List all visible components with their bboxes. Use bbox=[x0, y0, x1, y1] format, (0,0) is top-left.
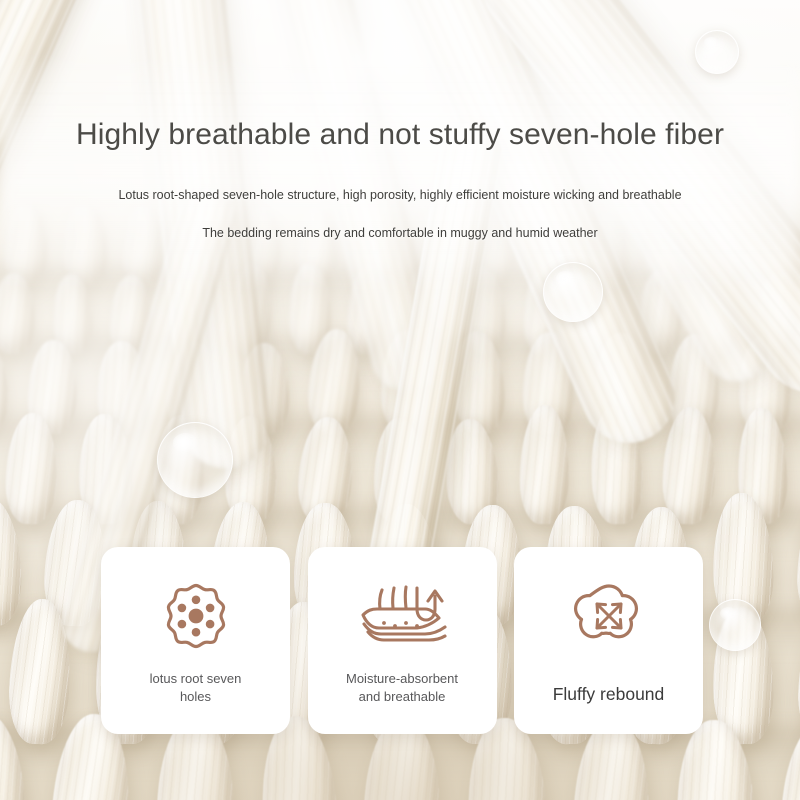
feature-card-lotus-root[interactable]: lotus root seven holes bbox=[101, 547, 290, 734]
headline-text-block: Highly breathable and not stuffy seven-h… bbox=[0, 118, 800, 240]
subtitle-line-2: The bedding remains dry and comfortable … bbox=[0, 226, 800, 240]
feature-card-group: lotus root seven holes bbox=[101, 547, 703, 734]
lotus-root-seven-holes-icon bbox=[159, 577, 233, 655]
card-label-line-2: and breathable bbox=[346, 688, 458, 706]
card-label-line-2: holes bbox=[150, 688, 242, 706]
fluffy-rebound-arrows-icon bbox=[572, 577, 646, 655]
water-droplet-center bbox=[543, 262, 603, 322]
subtitle-line-1: Lotus root-shaped seven-hole structure, … bbox=[0, 188, 800, 202]
feature-card-label: Moisture-absorbent and breathable bbox=[334, 670, 470, 706]
water-droplet-top-right bbox=[695, 30, 739, 74]
feature-card-label: lotus root seven holes bbox=[138, 670, 254, 706]
water-droplet-bottom-right bbox=[709, 599, 761, 651]
water-droplet-left bbox=[157, 422, 233, 498]
feature-card-label: Fluffy rebound bbox=[541, 682, 677, 706]
feature-card-moisture-absorbent[interactable]: Moisture-absorbent and breathable bbox=[308, 547, 497, 734]
page-title: Highly breathable and not stuffy seven-h… bbox=[0, 118, 800, 152]
feature-card-fluffy-rebound[interactable]: Fluffy rebound bbox=[514, 547, 703, 734]
product-feature-banner: Highly breathable and not stuffy seven-h… bbox=[0, 0, 800, 800]
card-label-line-1: Fluffy rebound bbox=[553, 682, 665, 706]
moisture-wicking-fabric-icon bbox=[354, 577, 450, 655]
card-label-line-1: Moisture-absorbent bbox=[346, 670, 458, 688]
card-label-line-1: lotus root seven bbox=[150, 670, 242, 688]
